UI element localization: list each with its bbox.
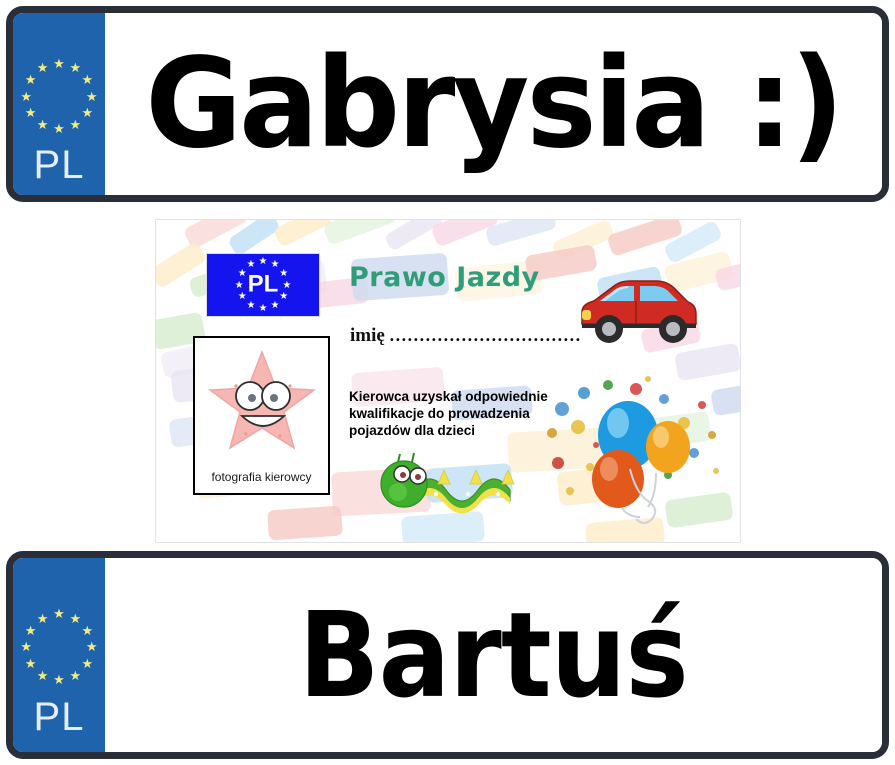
eu-star-icon: ★: [25, 107, 37, 119]
balloons-icon: [544, 375, 734, 530]
eu-star-icon: ★: [25, 658, 37, 670]
eu-star-icon: ★: [69, 670, 81, 682]
eu-star-icon: ★: [81, 74, 93, 86]
confetti-shape: [267, 505, 343, 540]
eu-star-icon: ★: [53, 608, 65, 620]
eu-stars-top: ★★★★★★★★★★★★: [20, 58, 98, 136]
eu-star-icon: ★: [86, 641, 98, 653]
name-field-line: imię ................................: [350, 325, 582, 347]
eu-star-icon: ★: [20, 91, 32, 103]
card-country-code: PL: [207, 270, 319, 298]
eu-band-top: ★★★★★★★★★★★★ PL: [13, 13, 105, 195]
eu-star-icon: ★: [81, 107, 93, 119]
eu-star-icon: ★: [53, 58, 65, 70]
license-plate-bottom: ★★★★★★★★★★★★ PL Bartuś: [6, 551, 889, 759]
eu-star-icon: ★: [69, 119, 81, 131]
eu-star-icon: ★: [270, 301, 279, 310]
eu-star-icon: ★: [37, 670, 49, 682]
eu-star-icon: ★: [25, 74, 37, 86]
eu-star-icon: ★: [247, 260, 256, 269]
eu-star-icon: ★: [270, 260, 279, 269]
name-field-label: imię: [350, 325, 385, 346]
license-plate-top: ★★★★★★★★★★★★ PL Gabrysia :): [6, 6, 889, 202]
eu-stars-bottom: ★★★★★★★★★★★★: [20, 608, 98, 686]
plate-face-bottom: Bartuś: [105, 558, 882, 752]
eu-star-icon: ★: [37, 119, 49, 131]
country-code-top: PL: [13, 143, 105, 188]
green-caterpillar-icon: [378, 450, 533, 520]
eu-star-icon: ★: [259, 257, 268, 266]
plate-text-bottom: Bartuś: [299, 586, 688, 724]
eu-star-icon: ★: [247, 301, 256, 310]
confetti-shape: [273, 219, 334, 248]
eu-star-icon: ★: [69, 613, 81, 625]
plate-text-top: Gabrysia :): [146, 32, 842, 176]
eu-star-icon: ★: [259, 304, 268, 313]
eu-band-bottom: ★★★★★★★★★★★★ PL: [13, 558, 105, 752]
card-title: Prawo Jazdy: [349, 262, 540, 293]
eu-star-icon: ★: [20, 641, 32, 653]
eu-star-icon: ★: [69, 62, 81, 74]
eu-star-icon: ★: [37, 62, 49, 74]
plate-face-top: Gabrysia :): [105, 13, 882, 195]
driving-licence-card: ★★★★★★★★★★★★ PL Prawo Jazdy imię .......…: [155, 219, 741, 543]
name-field-dots: ................................: [390, 325, 582, 345]
eu-star-icon: ★: [81, 625, 93, 637]
eu-star-icon: ★: [53, 123, 65, 135]
country-code-bottom: PL: [13, 695, 105, 740]
card-eu-flag: ★★★★★★★★★★★★ PL: [206, 253, 320, 317]
eu-star-icon: ★: [53, 674, 65, 686]
red-car-icon: [574, 270, 702, 350]
eu-star-icon: ★: [37, 613, 49, 625]
driver-photo-box: fotografia kierowcy: [193, 336, 330, 495]
eu-star-icon: ★: [86, 91, 98, 103]
eu-star-icon: ★: [25, 625, 37, 637]
photo-caption: fotografia kierowcy: [195, 470, 328, 484]
pink-starfish-icon: [206, 348, 318, 452]
eu-star-icon: ★: [81, 658, 93, 670]
